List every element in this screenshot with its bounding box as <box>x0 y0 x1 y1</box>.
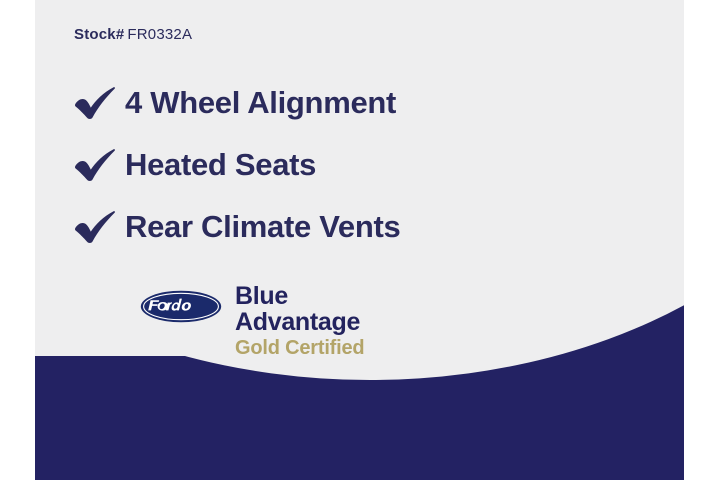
checkmark-icon <box>73 86 125 120</box>
stock-number-label: Stock# <box>74 26 124 43</box>
logo-line-advantage: Advantage <box>235 310 364 336</box>
stock-number-value: FR0332A <box>127 26 192 43</box>
ford-blue-advantage-logo: Blue Advantage Gold Certified <box>140 284 364 358</box>
feature-list: 4 Wheel Alignment Heated Seats Rear Clim… <box>73 72 593 258</box>
logo-line-blue: Blue <box>235 284 364 310</box>
stock-number: Stock#FR0332A <box>74 26 192 43</box>
feature-item: Heated Seats <box>73 134 593 196</box>
ford-oval-icon <box>140 290 222 323</box>
vehicle-feature-card: Stock#FR0332A 4 Wheel Alignment Heated S… <box>35 0 684 480</box>
logo-line-gold-certified: Gold Certified <box>235 338 364 358</box>
feature-label: Rear Climate Vents <box>125 209 400 245</box>
logo-wordmark: Blue Advantage Gold Certified <box>235 284 364 358</box>
feature-item: 4 Wheel Alignment <box>73 72 593 134</box>
checkmark-icon <box>73 210 125 244</box>
feature-item: Rear Climate Vents <box>73 196 593 258</box>
feature-label: Heated Seats <box>125 147 316 183</box>
checkmark-icon <box>73 148 125 182</box>
feature-label: 4 Wheel Alignment <box>125 85 396 121</box>
